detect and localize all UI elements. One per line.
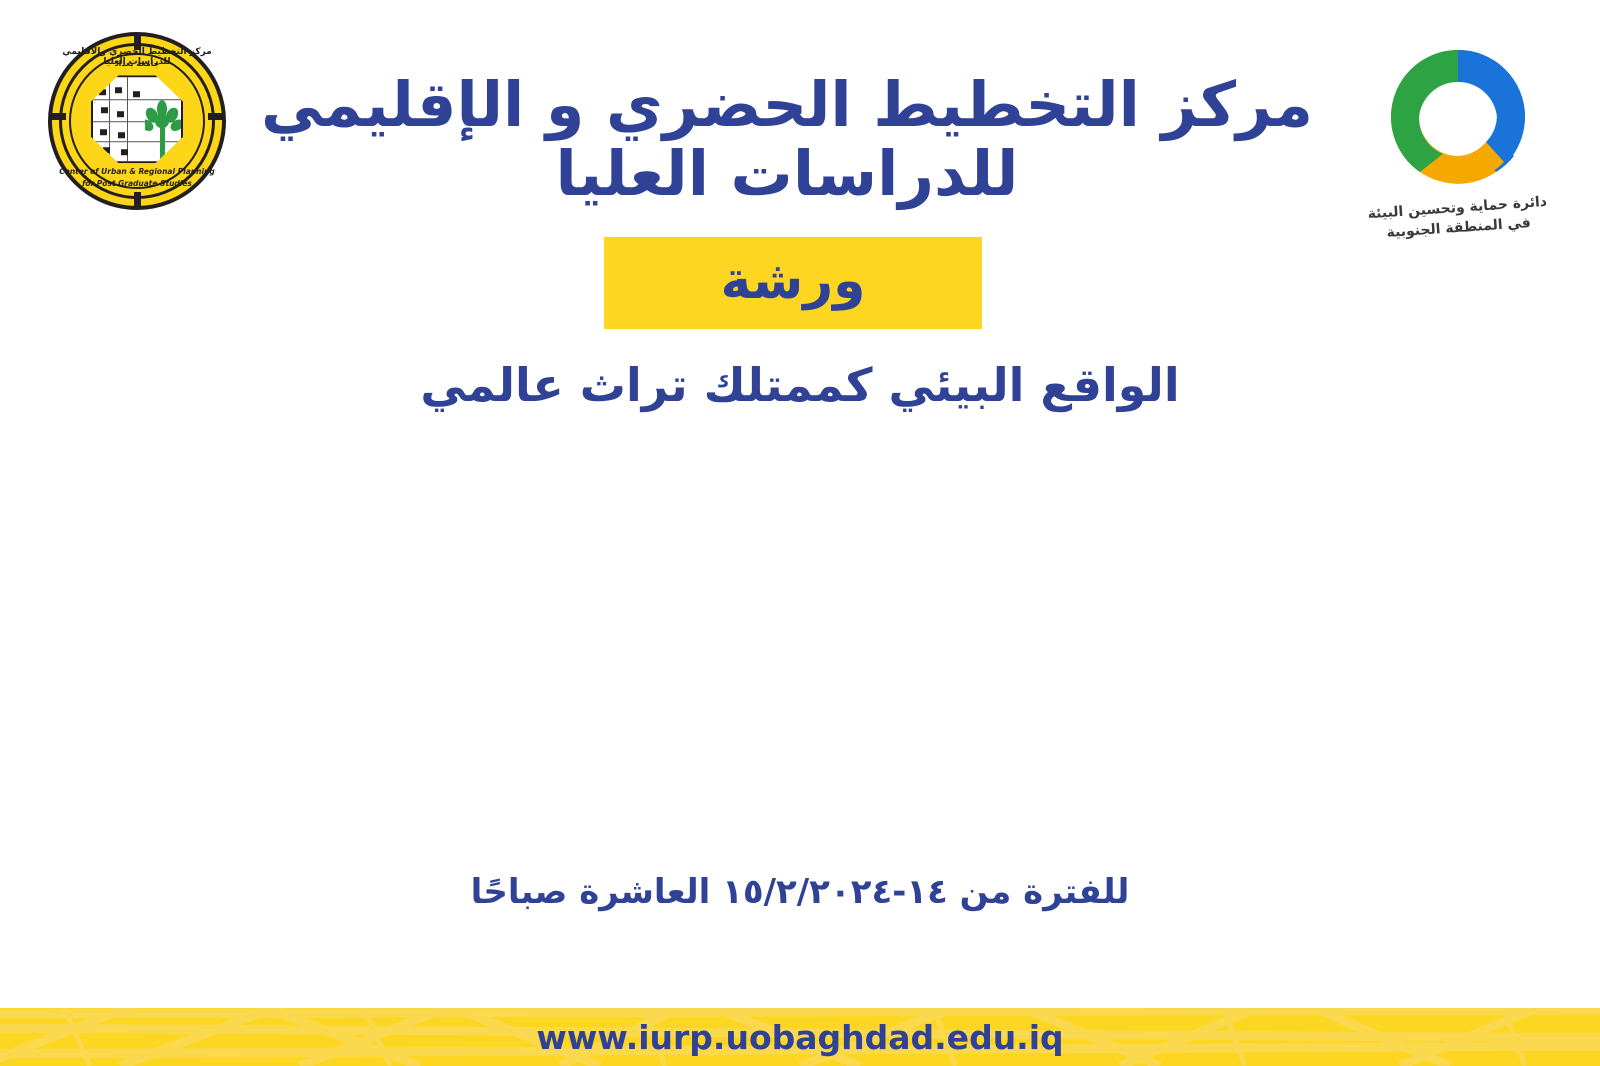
footer-band: www.iurp.uobaghdad.edu.iq bbox=[0, 1008, 1600, 1066]
poster-canvas: مركز التخطيط الحضري والأقليمي للدراسات ا… bbox=[0, 0, 1600, 1066]
website-url: www.iurp.uobaghdad.edu.iq bbox=[0, 1008, 1600, 1066]
schedule-text: للفترة من ١٤-١٥/٢/٢٠٢٤ العاشرة صباحًا bbox=[300, 872, 1300, 913]
